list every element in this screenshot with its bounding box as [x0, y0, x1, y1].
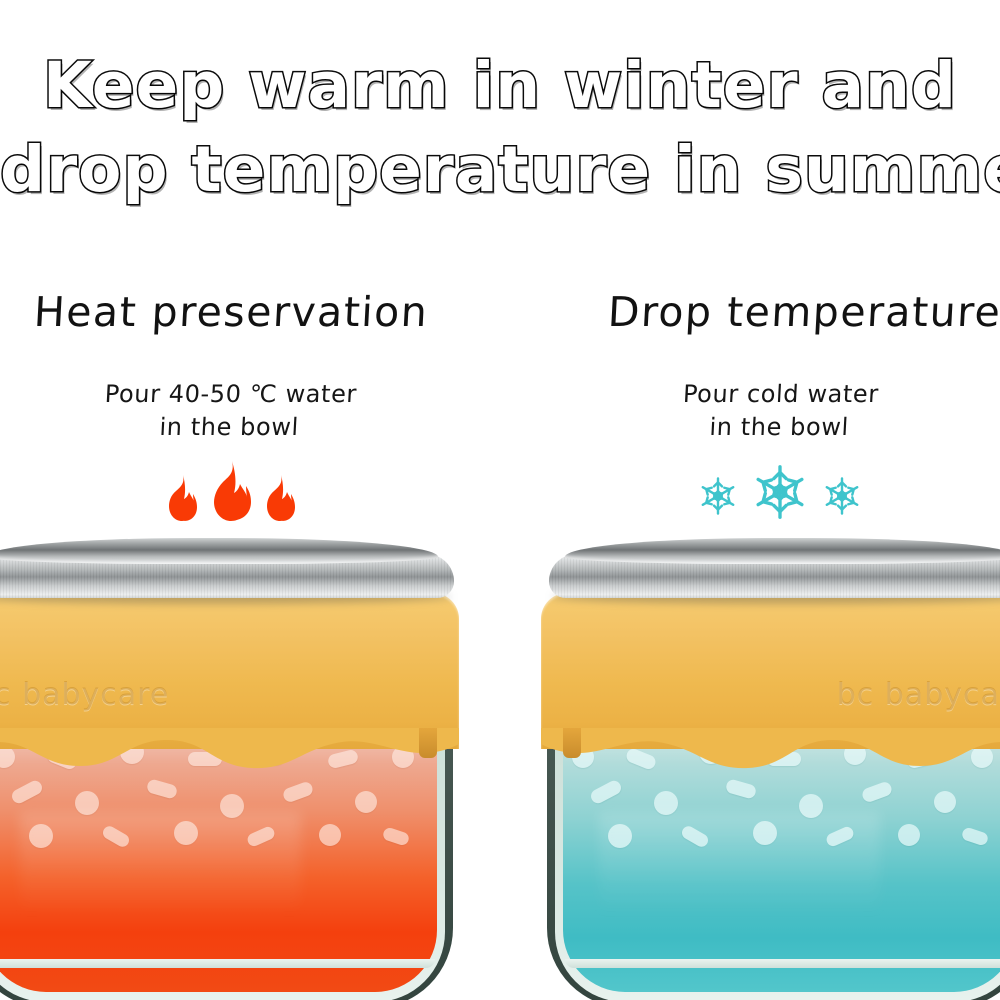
section-caption-heat-preservation: Pour 40-50 ℃ water in the bowl: [0, 378, 462, 444]
metal-lid-top: [0, 538, 438, 564]
caption-line-1: Pour cold water: [682, 380, 879, 408]
band-wave-edge: [0, 728, 459, 772]
metal-lid-top: [565, 538, 1000, 564]
bowl-base-rim: [0, 959, 435, 968]
promo-graphic: Keep warm in winter and drop temperature…: [0, 0, 1000, 1000]
caption-line-1: Pour 40-50 ℃ water: [104, 380, 358, 408]
bowl-silicone-band: bc babycare: [0, 593, 459, 749]
snowflake-icon: [752, 464, 808, 520]
band-wave-edge: [541, 728, 1000, 772]
brand-logo-text: bc babycare: [0, 677, 169, 712]
section-caption-drop-temperature: Pour cold water in the bowl: [558, 378, 1000, 444]
bowl-silicone-band: bc babycare: [541, 593, 1000, 749]
brand-logo-text: bc babycare: [837, 677, 1000, 712]
product-bowl-cold: bc babycare: [541, 538, 1000, 1000]
flame-icon: [207, 460, 253, 522]
bowl-base-rim: [565, 959, 1000, 968]
flame-icon: [261, 474, 297, 522]
caption-line-2: in the bowl: [0, 411, 460, 444]
caption-line-2: in the bowl: [558, 411, 1000, 444]
band-side-tab: [419, 728, 437, 758]
product-bowl-hot: bc babycare: [0, 538, 459, 1000]
headline-line-1: Keep warm in winter and: [0, 44, 1000, 128]
section-heading-drop-temperature: Drop temperature: [607, 288, 1000, 336]
snowflake-icon-group: [560, 448, 1000, 520]
band-side-tab: [563, 728, 581, 758]
flame-icon: [163, 474, 199, 522]
flame-icon-group: [0, 452, 460, 522]
section-heading-heat-preservation: Heat preservation: [33, 288, 430, 336]
snowflake-icon: [698, 476, 738, 516]
snowflake-icon: [822, 476, 862, 516]
headline-line-2: drop temperature in summer: [0, 128, 1000, 212]
page-title: Keep warm in winter and drop temperature…: [0, 44, 1000, 212]
